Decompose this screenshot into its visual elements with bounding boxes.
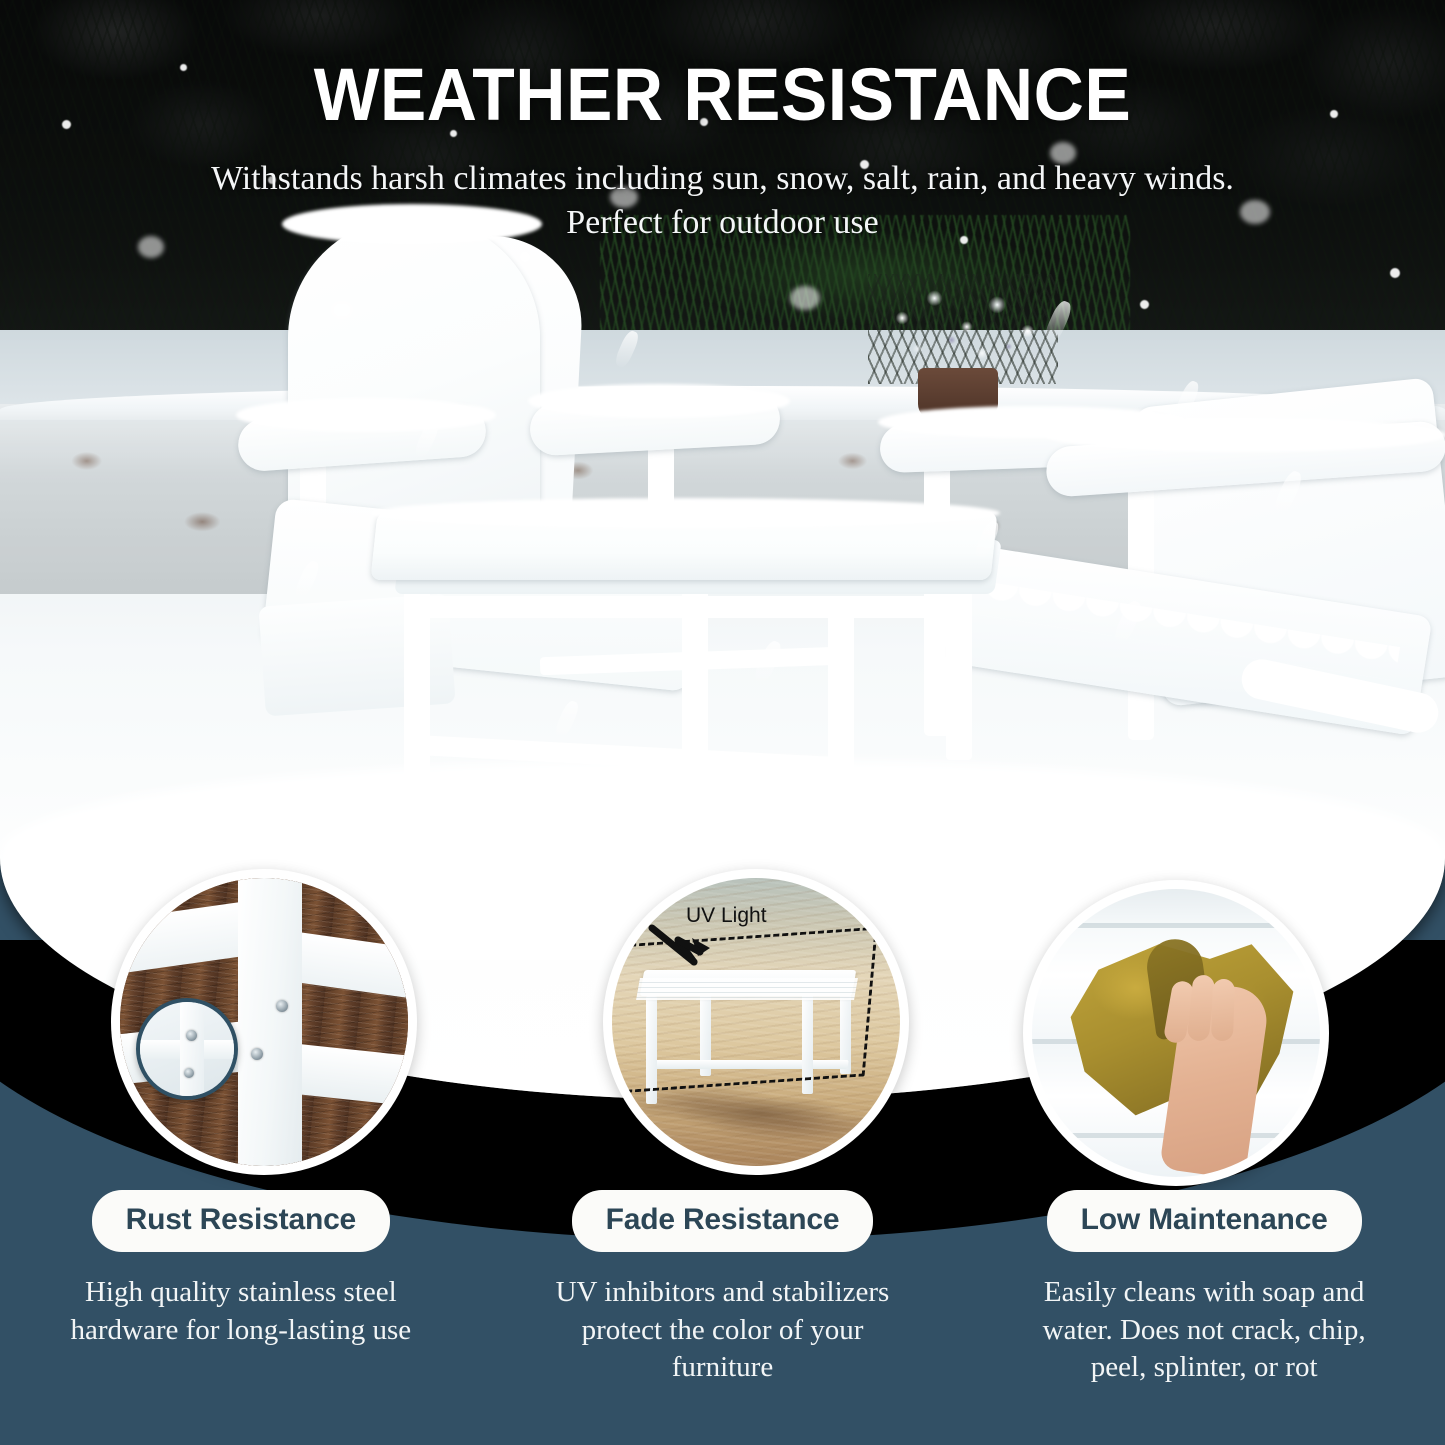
- badge-fade-resistance[interactable]: Fade Resistance: [572, 1190, 874, 1252]
- feature-column-fade: Fade Resistance UV inhibitors and stabil…: [482, 1190, 964, 1387]
- feature-column-rust: Rust Resistance High quality stainless s…: [0, 1190, 482, 1387]
- uv-light-label: UV Light: [686, 904, 767, 928]
- rust-resistance-circle: [111, 869, 417, 1175]
- description-low-maintenance: Easily cleans with soap and water. Does …: [1011, 1274, 1396, 1387]
- table-shadow: [631, 1090, 889, 1136]
- finger: [1211, 979, 1235, 1042]
- infographic-root: WEATHER RESISTANCE Withstands harsh clim…: [0, 0, 1445, 1445]
- low-maintenance-circle: [1023, 880, 1329, 1186]
- fade-resistance-circle: UV Light: [603, 869, 909, 1175]
- badge-low-maintenance[interactable]: Low Maintenance: [1047, 1190, 1362, 1252]
- screw-head: [276, 1000, 288, 1012]
- description-fade-resistance: UV inhibitors and stabilizers protect th…: [530, 1274, 915, 1387]
- inset-leg: [180, 998, 204, 1100]
- inset-screw-head: [186, 1030, 197, 1041]
- inset-screw-head: [184, 1068, 194, 1078]
- screw-head: [251, 1048, 263, 1060]
- badge-rust-resistance[interactable]: Rust Resistance: [92, 1190, 390, 1252]
- feature-text-panel: Rust Resistance High quality stainless s…: [0, 1190, 1445, 1445]
- uv-light-arrow-icon: [648, 922, 758, 984]
- description-rust-resistance: High quality stainless steel hardware fo…: [48, 1274, 433, 1349]
- surface-seam: [1032, 923, 1320, 928]
- feature-column-low-maintenance: Low Maintenance Easily cleans with soap …: [963, 1190, 1445, 1387]
- white-post-vertical: [238, 878, 302, 1166]
- screw-closeup-inset-circle: [136, 998, 238, 1100]
